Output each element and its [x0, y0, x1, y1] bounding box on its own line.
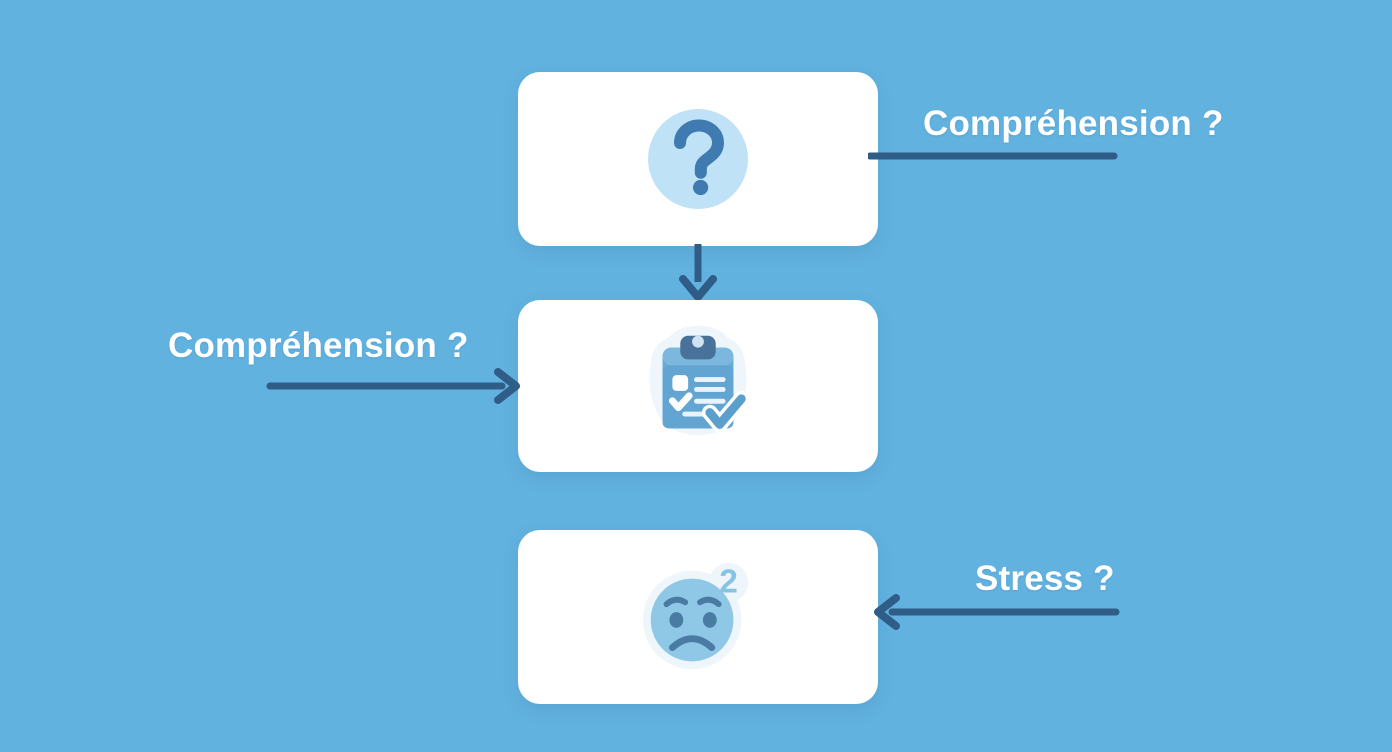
label-comprehension-mid: Compréhension ?	[168, 326, 469, 366]
card-checklist[interactable]	[518, 300, 878, 472]
diagram-canvas: 2 Compréhension ? Compréhension ? Stress…	[0, 0, 1392, 752]
label-comprehension-top: Compréhension ?	[923, 104, 1224, 144]
clipboard-checklist-icon	[633, 321, 763, 451]
connector-top-right	[868, 145, 1118, 167]
card-stress[interactable]: 2	[518, 530, 878, 704]
card-question[interactable]	[518, 72, 878, 246]
question-mark-icon	[633, 94, 763, 224]
connector-mid-left	[266, 368, 522, 404]
label-stress: Stress ?	[975, 559, 1115, 599]
connector-bottom	[874, 594, 1120, 630]
stress-badge-count: 2	[719, 563, 738, 600]
sad-face-icon: 2	[633, 552, 763, 682]
connector-down	[676, 244, 720, 302]
